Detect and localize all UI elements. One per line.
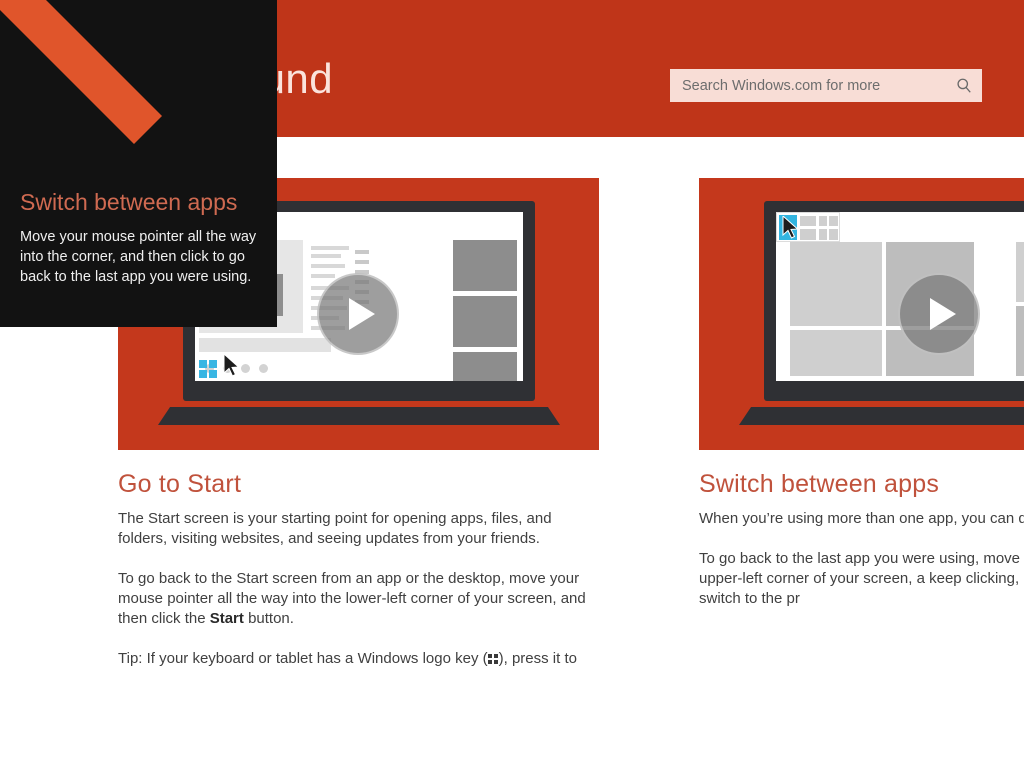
app-switcher-thumb [829,229,838,240]
windows-logo-icon [199,360,219,380]
arrow-cursor-icon [223,354,241,378]
play-icon[interactable] [898,273,980,355]
page-root: Get around [0,0,1024,768]
app-switcher-thumb [800,229,816,240]
tile-graphic [453,352,517,381]
paragraph-text-before: To go back to the Start screen from an a… [118,570,586,627]
card-switch-between-apps: Switch between apps When you’re using mo… [699,178,1024,609]
play-icon[interactable] [317,273,399,355]
bold-term-start: Start [210,610,244,627]
app-switcher-thumb [819,229,827,240]
tile-graphic [453,296,517,347]
overlay-body-text: Move your mouse pointer all the way into… [20,227,258,287]
arrow-cursor-icon [782,216,800,240]
laptop-screen-content [776,212,1024,381]
app-switcher-thumb [829,216,838,226]
arrow-up-left-icon [0,0,170,168]
tile-graphic [790,330,882,376]
laptop-base-graphic [158,407,560,425]
search-input[interactable] [682,69,954,102]
text-line-graphic [311,254,341,258]
text-line-graphic [311,274,335,278]
app-switcher-thumb [800,216,816,226]
text-line-graphic [311,264,345,268]
tile-graphic [1016,306,1024,376]
tile-graphic [1016,242,1024,302]
text-line-graphic [355,250,369,254]
dot-graphic [259,364,268,373]
card-title-go-to-start: Go to Start [118,470,599,499]
text-line-graphic [355,260,369,264]
card-body-go-to-start: The Start screen is your starting point … [118,509,599,669]
card-paragraph-with-bold: To go back to the Start screen from an a… [118,569,599,629]
card-paragraph: To go back to the last app you were usin… [699,549,1024,609]
card-title-switch-between-apps: Switch between apps [699,470,1024,499]
chart-bar [276,274,283,316]
card-body-switch-between-apps: When you’re using more than one app, you… [699,509,1024,609]
tile-graphic [453,240,517,291]
teaching-callout-overlay[interactable]: Switch between apps Move your mouse poin… [0,0,277,327]
dot-graphic [241,364,250,373]
search-icon[interactable] [954,76,974,96]
card-paragraph: The Start screen is your starting point … [118,509,599,549]
card-paragraph: When you’re using more than one app, you… [699,509,1024,529]
search-box[interactable] [670,69,982,102]
overlay-title: Switch between apps [20,189,237,216]
text-line-graphic [311,246,349,250]
tile-graphic [790,242,882,326]
laptop-illustration [764,201,1024,401]
laptop-base-graphic [739,407,1024,425]
app-switcher-thumb [819,216,827,226]
taskbar-strip-graphic [199,338,331,352]
paragraph-text-after: button. [244,610,294,627]
windows-key-icon [488,654,499,664]
card-paragraph-tip: Tip: If your keyboard or tablet has a Wi… [118,649,599,669]
video-thumbnail-switch-between-apps[interactable] [699,178,1024,450]
